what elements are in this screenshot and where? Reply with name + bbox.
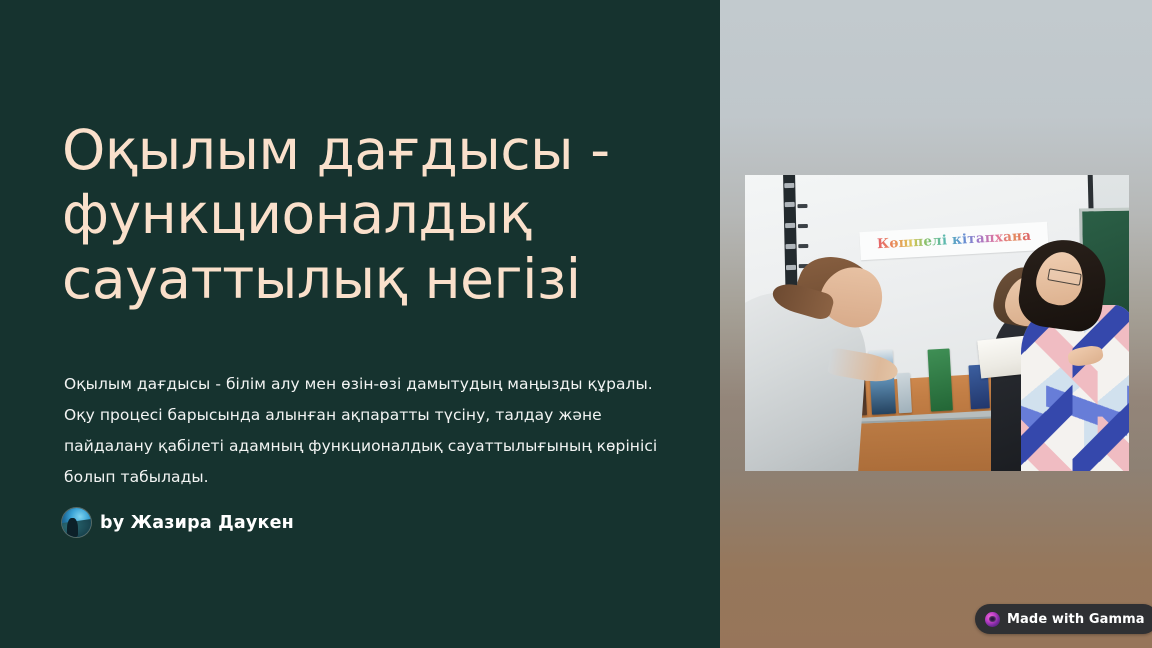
- made-with-gamma-badge[interactable]: Made with Gamma: [975, 604, 1152, 634]
- photo-book: [897, 373, 911, 413]
- made-with-gamma-label: Made with Gamma: [1007, 612, 1145, 627]
- body-block: Оқылым дағдысы - білім алу мен өзін-өзі …: [64, 369, 664, 493]
- presentation-slide: Оқылым дағдысы - функционалдық сауаттылы…: [0, 0, 1152, 648]
- byline: by Жазира Даукен: [62, 508, 294, 537]
- slide-left-panel: Оқылым дағдысы - функционалдық сауаттылы…: [0, 0, 720, 648]
- avatar: [62, 508, 91, 537]
- slide-body-text: Оқылым дағдысы - білім алу мен өзін-өзі …: [64, 369, 664, 493]
- photo-banner-text: Көшпелі кітапхана: [877, 230, 1032, 252]
- avatar-figure: [67, 518, 77, 537]
- classroom-photo: Көшпелі кітапхана: [745, 175, 1129, 471]
- title-block: Оқылым дағдысы - функционалдық сауаттылы…: [62, 118, 677, 311]
- gamma-logo-icon: [985, 612, 1000, 627]
- photo-book: [927, 348, 953, 412]
- page-title: Оқылым дағдысы - функционалдық сауаттылы…: [62, 118, 677, 311]
- author-name: by Жазира Даукен: [100, 513, 294, 533]
